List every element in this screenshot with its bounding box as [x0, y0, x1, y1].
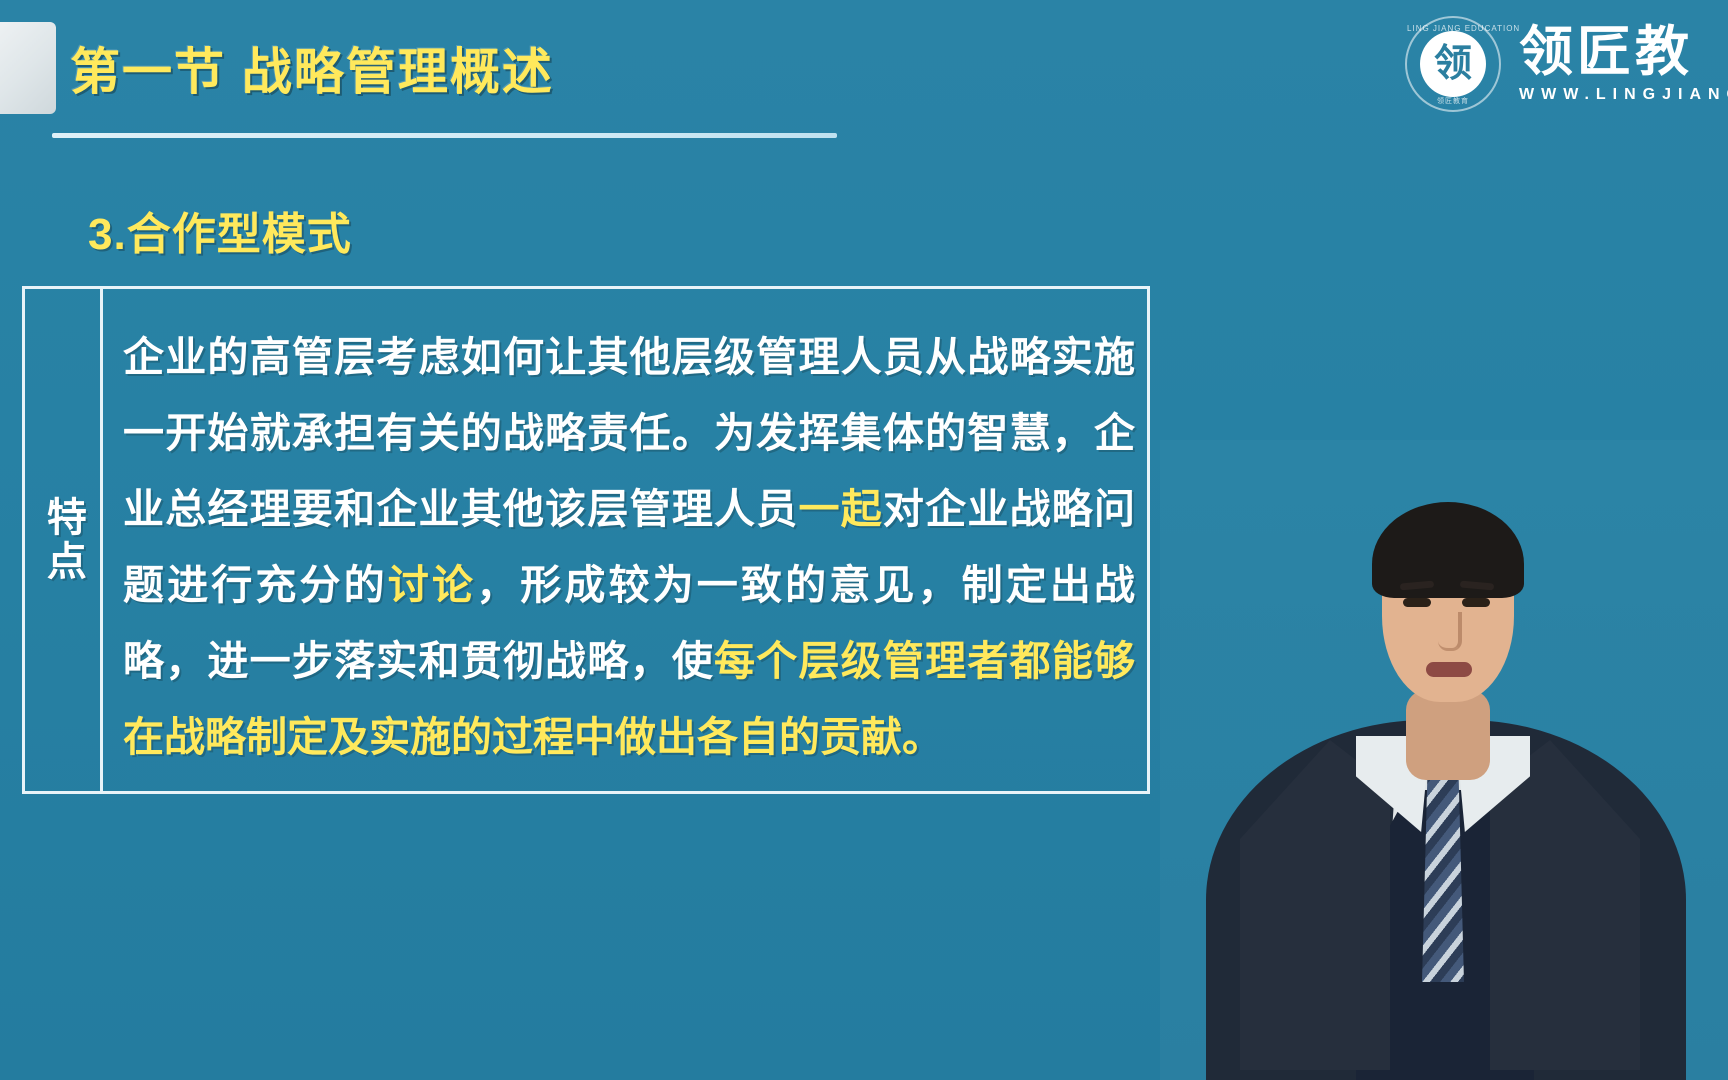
- brand-seal-icon: LING JIANG EDUCATION 领 领匠教育: [1405, 16, 1501, 112]
- paragraph-highlight: 讨论: [388, 562, 476, 608]
- table-content-cell: 企业的高管层考虑如何让其他层级管理人员从战略实施一开始就承担有关的战略责任。为发…: [103, 289, 1147, 791]
- brand-seal-ring-top: LING JIANG EDUCATION: [1407, 24, 1499, 33]
- title-divider: [52, 133, 837, 138]
- table-row-label-cell: 特点: [25, 289, 103, 791]
- table-row-label: 特点: [38, 496, 87, 584]
- slide-stage: 第一节 战略管理概述 LING JIANG EDUCATION 领 领匠教育 领…: [0, 0, 1728, 1080]
- hexagon-decoration-icon: [0, 22, 56, 114]
- feature-table: 特点 企业的高管层考虑如何让其他层级管理人员从战略实施一开始就承担有关的战略责任…: [22, 286, 1150, 794]
- brand-name: 领匠教: [1519, 25, 1728, 79]
- presenter-video: [1160, 440, 1728, 1080]
- presenter-nose: [1438, 612, 1462, 651]
- presenter-eye-left: [1403, 598, 1431, 607]
- brand-logo: LING JIANG EDUCATION 领 领匠教育 领匠教 WWW.LING…: [1405, 16, 1728, 112]
- page-title: 第一节 战略管理概述: [70, 32, 554, 104]
- feature-paragraph: 企业的高管层考虑如何让其他层级管理人员从战略实施一开始就承担有关的战略责任。为发…: [123, 319, 1135, 775]
- section-heading: 3.合作型模式: [88, 198, 352, 262]
- brand-text-block: 领匠教 WWW.LINGJIANG: [1519, 25, 1728, 103]
- paragraph-highlight: 一起: [798, 486, 882, 532]
- presenter-mouth: [1426, 662, 1472, 677]
- brand-url: WWW.LINGJIANG: [1519, 87, 1728, 103]
- brand-seal-char: 领: [1420, 31, 1486, 97]
- presenter-eye-right: [1462, 598, 1490, 607]
- brand-seal-ring-bottom: 领匠教育: [1407, 96, 1499, 106]
- presenter-neck: [1406, 690, 1490, 780]
